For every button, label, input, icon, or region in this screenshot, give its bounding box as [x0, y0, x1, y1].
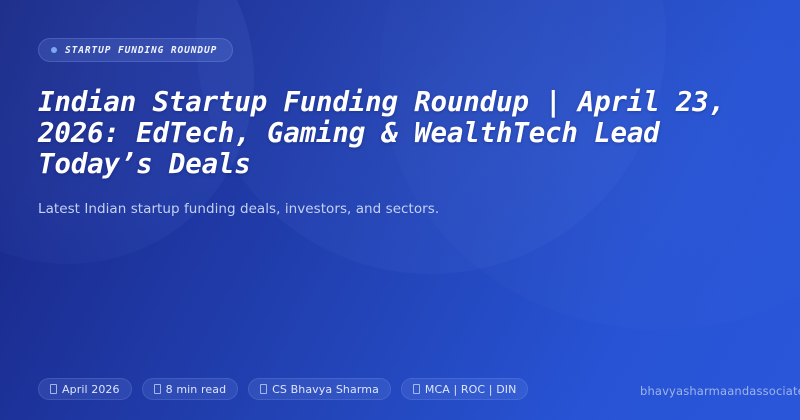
meta-chip-row: April 2026 8 min read CS Bhavya Sharma M…	[38, 378, 528, 400]
meta-chip-date: April 2026	[38, 378, 132, 400]
page-title: Indian Startup Funding Roundup | April 2…	[38, 87, 754, 180]
dot-icon	[51, 47, 57, 53]
meta-chip-readtime: 8 min read	[142, 378, 239, 400]
hero-banner: STARTUP FUNDING ROUNDUP Indian Startup F…	[0, 0, 800, 420]
site-watermark: bhavyasharmaandassociates	[640, 384, 800, 398]
category-badge-label: STARTUP FUNDING ROUNDUP	[65, 45, 217, 56]
meta-chip-tags-label: MCA | ROC | DIN	[425, 383, 517, 396]
meta-chip-tags: MCA | ROC | DIN	[401, 378, 529, 400]
category-badge: STARTUP FUNDING ROUNDUP	[38, 38, 233, 62]
meta-chip-author: CS Bhavya Sharma	[248, 378, 391, 400]
meta-chip-date-label: April 2026	[62, 383, 120, 396]
user-icon	[260, 384, 267, 394]
page-subtitle: Latest Indian startup funding deals, inv…	[38, 200, 760, 218]
hero-content: STARTUP FUNDING ROUNDUP Indian Startup F…	[0, 0, 800, 420]
document-icon	[413, 384, 420, 394]
calendar-icon	[50, 384, 57, 394]
clock-icon	[154, 384, 161, 394]
meta-chip-author-label: CS Bhavya Sharma	[272, 383, 379, 396]
meta-chip-readtime-label: 8 min read	[166, 383, 227, 396]
